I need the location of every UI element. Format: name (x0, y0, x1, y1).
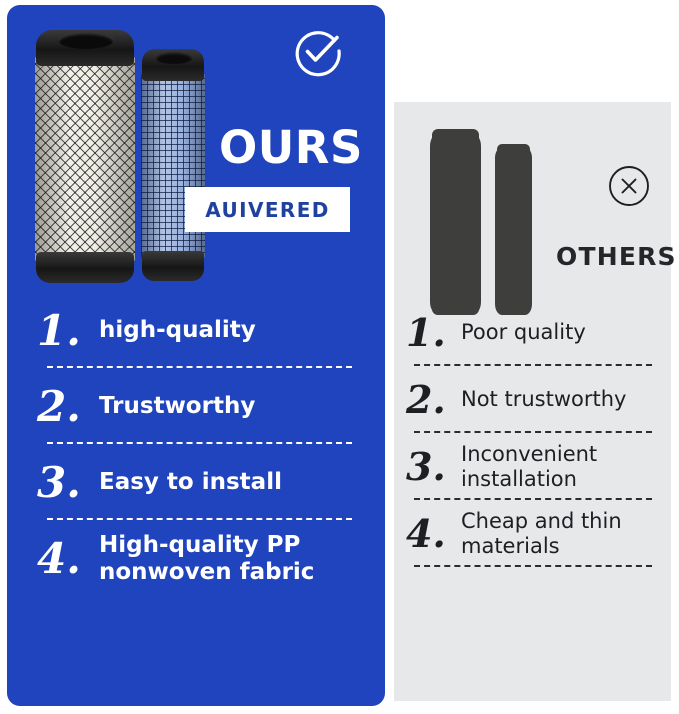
filter-opening (155, 51, 193, 64)
list-item-number: 1. (37, 310, 99, 352)
ours-product-image (27, 22, 209, 290)
filter-mesh-diamond (35, 56, 135, 262)
brand-name: AUIVERED (205, 198, 330, 222)
list-item-number: 3. (406, 448, 461, 486)
filter-cartridge-white (35, 30, 135, 283)
others-list: 1. Poor quality 2. Not trustworthy 3. In… (406, 307, 656, 575)
list-item-label: Easy to install (99, 469, 282, 496)
list-item-number: 2. (37, 386, 99, 428)
list-item: 3. Inconvenient installation (406, 441, 656, 493)
x-circle-icon (607, 164, 651, 208)
filter-cap-top (142, 49, 204, 81)
list-divider (47, 518, 352, 520)
list-divider (414, 498, 652, 500)
list-item: 4. High-quality PP nonwoven fabric (37, 530, 360, 588)
dark-filter-large (430, 133, 481, 315)
list-item-number: 4. (37, 538, 99, 580)
list-item-number: 4. (406, 515, 461, 553)
list-item: 1. Poor quality (406, 307, 656, 359)
list-divider (47, 366, 352, 368)
list-item: 4. Cheap and thin materials (406, 508, 656, 560)
list-item-label: Poor quality (461, 320, 586, 345)
list-item-label: High-quality PP nonwoven fabric (99, 532, 360, 586)
ours-title: OURS (219, 121, 363, 174)
list-divider (414, 431, 652, 433)
ours-list: 1. high-quality 2. Trustworthy 3. Easy t… (37, 302, 360, 588)
others-header: OTHERS (394, 102, 671, 307)
dark-filter-large-cap-top (432, 129, 479, 143)
others-product-image (430, 125, 540, 315)
filter-cap-bottom (142, 251, 204, 281)
list-item: 3. Easy to install (37, 454, 360, 512)
check-circle-icon (290, 23, 346, 79)
dark-filter-small (495, 147, 532, 315)
ours-header: OURS AUIVERED (7, 5, 385, 302)
list-item-label: Cheap and thin materials (461, 509, 656, 559)
list-divider (414, 364, 652, 366)
list-divider (414, 565, 652, 567)
filter-opening (58, 32, 114, 49)
list-item-label: Not trustworthy (461, 387, 626, 412)
filter-cartridge-blue (141, 49, 205, 281)
filter-cap-top (36, 30, 134, 66)
dark-filter-small-cap-top (497, 144, 530, 156)
list-divider (47, 442, 352, 444)
brand-badge: AUIVERED (185, 187, 350, 232)
list-item: 1. high-quality (37, 302, 360, 360)
list-item-number: 1. (406, 314, 461, 352)
list-item-label: Inconvenient installation (461, 442, 656, 492)
filter-cap-bottom (36, 252, 134, 283)
list-item-label: Trustworthy (99, 393, 255, 420)
list-item-number: 3. (37, 462, 99, 504)
list-item: 2. Trustworthy (37, 378, 360, 436)
others-title: OTHERS (556, 242, 677, 271)
others-panel: OTHERS 1. Poor quality 2. Not trustworth… (394, 102, 671, 701)
list-item-number: 2. (406, 381, 461, 419)
list-item-label: high-quality (99, 317, 256, 344)
ours-panel: OURS AUIVERED 1. high-quality 2. Trustwo… (7, 5, 385, 706)
list-item: 2. Not trustworthy (406, 374, 656, 426)
